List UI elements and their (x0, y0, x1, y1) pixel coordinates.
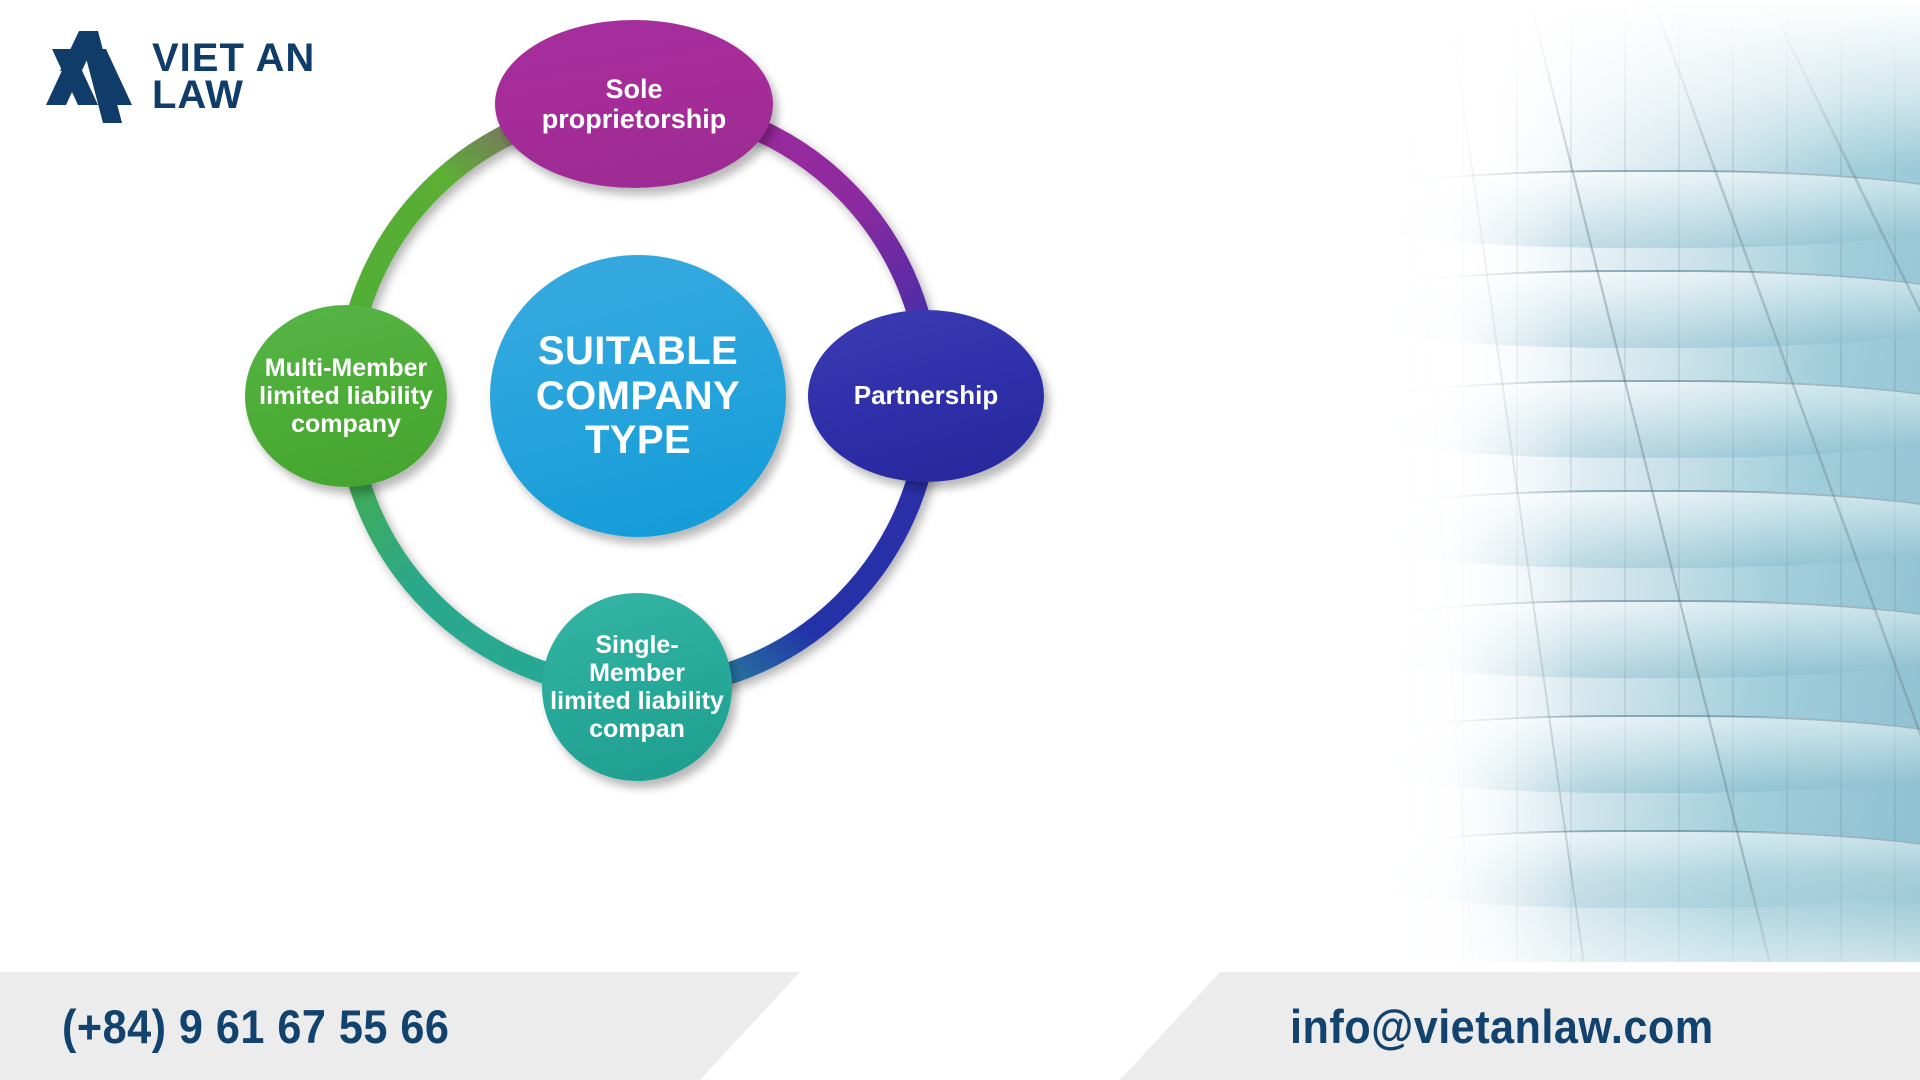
architecture-photo (1382, 0, 1920, 962)
footer-phone[interactable]: (+84) 9 61 67 55 66 (62, 972, 449, 1080)
node-sole-proprietorship[interactable]: Sole proprietorship (495, 20, 773, 188)
node-partnership[interactable]: Partnership (808, 310, 1044, 482)
cycle-diagram: SUITABLE COMPANY TYPE Sole proprietorshi… (230, 0, 1090, 962)
node-single-member-llc[interactable]: Single-Member limited liability compan (542, 593, 732, 781)
photo-top-fade (1382, 0, 1920, 170)
footer-email[interactable]: info@vietanlaw.com (1290, 972, 1714, 1080)
photo-bottom-fade (1382, 872, 1920, 962)
contact-footer: (+84) 9 61 67 55 66 info@vietanlaw.com (0, 972, 1920, 1080)
viet-an-law-monogram-icon (46, 27, 138, 127)
node-center-suitable-company-type[interactable]: SUITABLE COMPANY TYPE (490, 255, 786, 537)
node-multi-member-llc[interactable]: Multi-Member limited liability company (245, 305, 447, 487)
